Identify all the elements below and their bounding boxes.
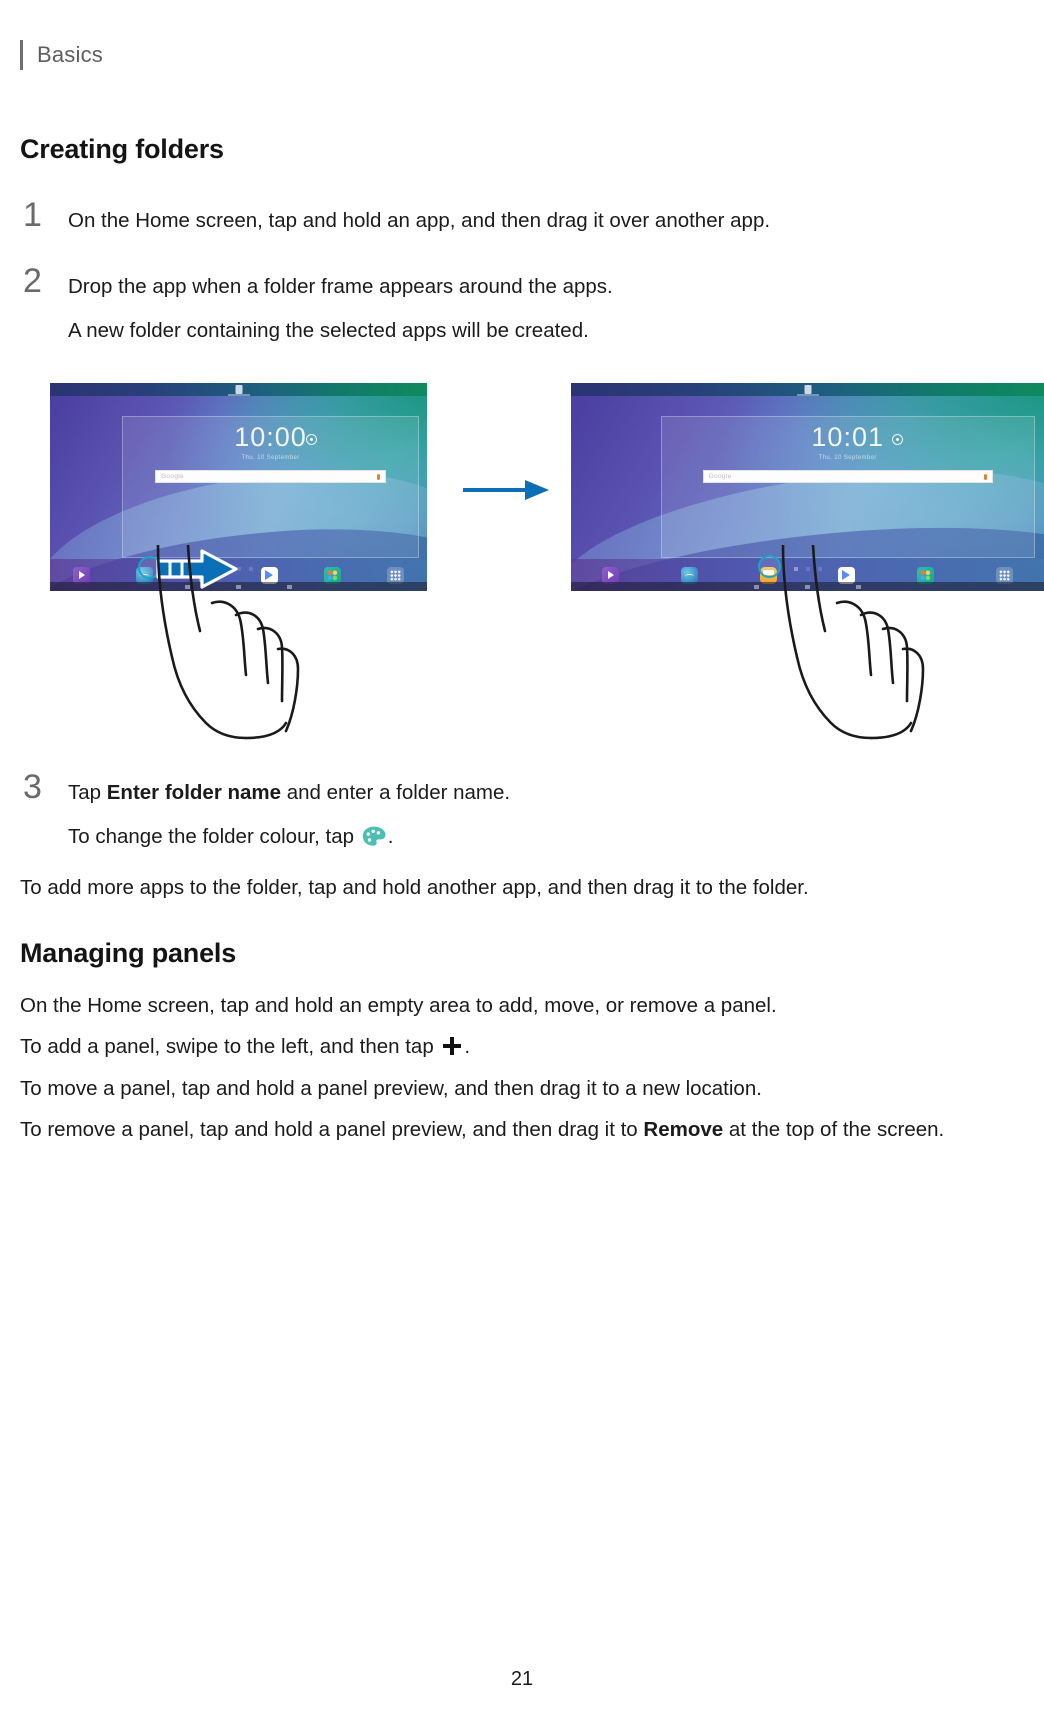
remove-panel-bold: Remove — [643, 1118, 723, 1141]
apps-grid-icon[interactable] — [387, 567, 404, 584]
status-bar — [571, 383, 1044, 396]
step-3-text-after: and enter a folder name. — [281, 781, 510, 804]
paragraph-add-panel: To add a panel, swipe to the left, and t… — [20, 1031, 972, 1062]
search-placeholder: Google — [709, 473, 732, 480]
step-2-text: Drop the app when a folder frame appears… — [68, 272, 980, 302]
step-3-subtext-after: . — [388, 825, 394, 848]
apps-grid-icon[interactable] — [996, 567, 1013, 584]
page-number: 21 — [0, 1668, 1044, 1691]
dock-slot-6[interactable] — [965, 567, 1044, 584]
step-3: 3 Tap Enter folder name and enter a fold… — [20, 778, 980, 852]
battery-icon — [235, 385, 242, 394]
microphone-icon[interactable] — [984, 474, 987, 480]
microphone-icon[interactable] — [377, 474, 380, 480]
battery-icon — [804, 385, 811, 394]
add-panel-text-before: To add a panel, swipe to the left, and t… — [20, 1035, 439, 1058]
remove-panel-text-after: at the top of the screen. — [723, 1118, 944, 1141]
step-3-number: 3 — [23, 770, 42, 804]
google-search-bar[interactable]: Google — [155, 470, 386, 483]
paragraph-remove-panel: To remove a panel, tap and hold a panel … — [20, 1114, 972, 1145]
note-add-more-apps: To add more apps to the folder, tap and … — [20, 872, 972, 903]
clock-widget[interactable]: 10:00 Thu, 10 September — [123, 424, 419, 461]
dock-slot-1[interactable] — [571, 567, 650, 584]
clock-time: 10:00 — [123, 424, 419, 451]
remove-panel-text-before: To remove a panel, tap and hold a panel … — [20, 1118, 643, 1141]
internet-icon[interactable] — [681, 567, 698, 584]
clock-date: Thu, 10 September — [123, 455, 419, 461]
figure-creating-folders: 10:00 Thu, 10 September Google — [0, 360, 1044, 760]
play-music-icon[interactable] — [602, 567, 619, 584]
clock-widget[interactable]: 10:01 Thu, 10 September — [662, 424, 1034, 461]
add-panel-text-after: . — [464, 1035, 470, 1058]
home-panel-frame: 10:01 Thu, 10 September Google — [661, 416, 1035, 558]
step-1-number: 1 — [23, 198, 42, 232]
dock-slot-6[interactable] — [364, 567, 427, 584]
step-1-text: On the Home screen, tap and hold an app,… — [68, 206, 980, 236]
running-head-label: Basics — [37, 42, 103, 68]
galaxy-apps-icon[interactable] — [324, 567, 341, 584]
hand-pointer-illustration-right — [745, 545, 935, 740]
step-3-subtext-before: To change the folder colour, tap — [68, 825, 360, 848]
section-heading-managing-panels: Managing panels — [20, 938, 236, 969]
manual-page: Basics Creating folders 1 On the Home sc… — [0, 0, 1044, 1719]
step-2-number: 2 — [23, 264, 42, 298]
paragraph-manage-panel: On the Home screen, tap and hold an empt… — [20, 990, 972, 1021]
running-head-rule — [20, 40, 23, 70]
dock-slot-2[interactable] — [650, 567, 729, 584]
google-search-bar[interactable]: Google — [703, 470, 993, 483]
step-3-text-before: Tap — [68, 781, 107, 804]
clock-date: Thu, 10 September — [662, 455, 1034, 461]
plus-icon — [443, 1037, 461, 1055]
play-music-icon[interactable] — [73, 567, 90, 584]
dock-slot-1[interactable] — [50, 567, 113, 584]
paragraph-move-panel: To move a panel, tap and hold a panel pr… — [20, 1073, 972, 1104]
step-3-text: Tap Enter folder name and enter a folder… — [68, 778, 980, 808]
step-3-subtext: To change the folder colour, tap . — [68, 822, 980, 852]
clock-time: 10:01 — [662, 424, 1034, 451]
step-2-subtext: A new folder containing the selected app… — [68, 316, 980, 346]
step-1: 1 On the Home screen, tap and hold an ap… — [20, 206, 980, 236]
dock-slot-5[interactable] — [301, 567, 364, 584]
hand-pointer-illustration-left — [120, 545, 310, 740]
step-3-text-bold: Enter folder name — [107, 781, 281, 804]
palette-icon — [362, 826, 386, 847]
weather-icon[interactable] — [306, 434, 317, 445]
transition-arrow-right-icon — [463, 478, 549, 502]
search-placeholder: Google — [161, 473, 184, 480]
home-panel-frame: 10:00 Thu, 10 September Google — [122, 416, 420, 558]
running-head: Basics — [20, 38, 420, 72]
section-heading-creating-folders: Creating folders — [20, 134, 224, 165]
step-2: 2 Drop the app when a folder frame appea… — [20, 272, 980, 346]
status-bar — [50, 383, 427, 396]
